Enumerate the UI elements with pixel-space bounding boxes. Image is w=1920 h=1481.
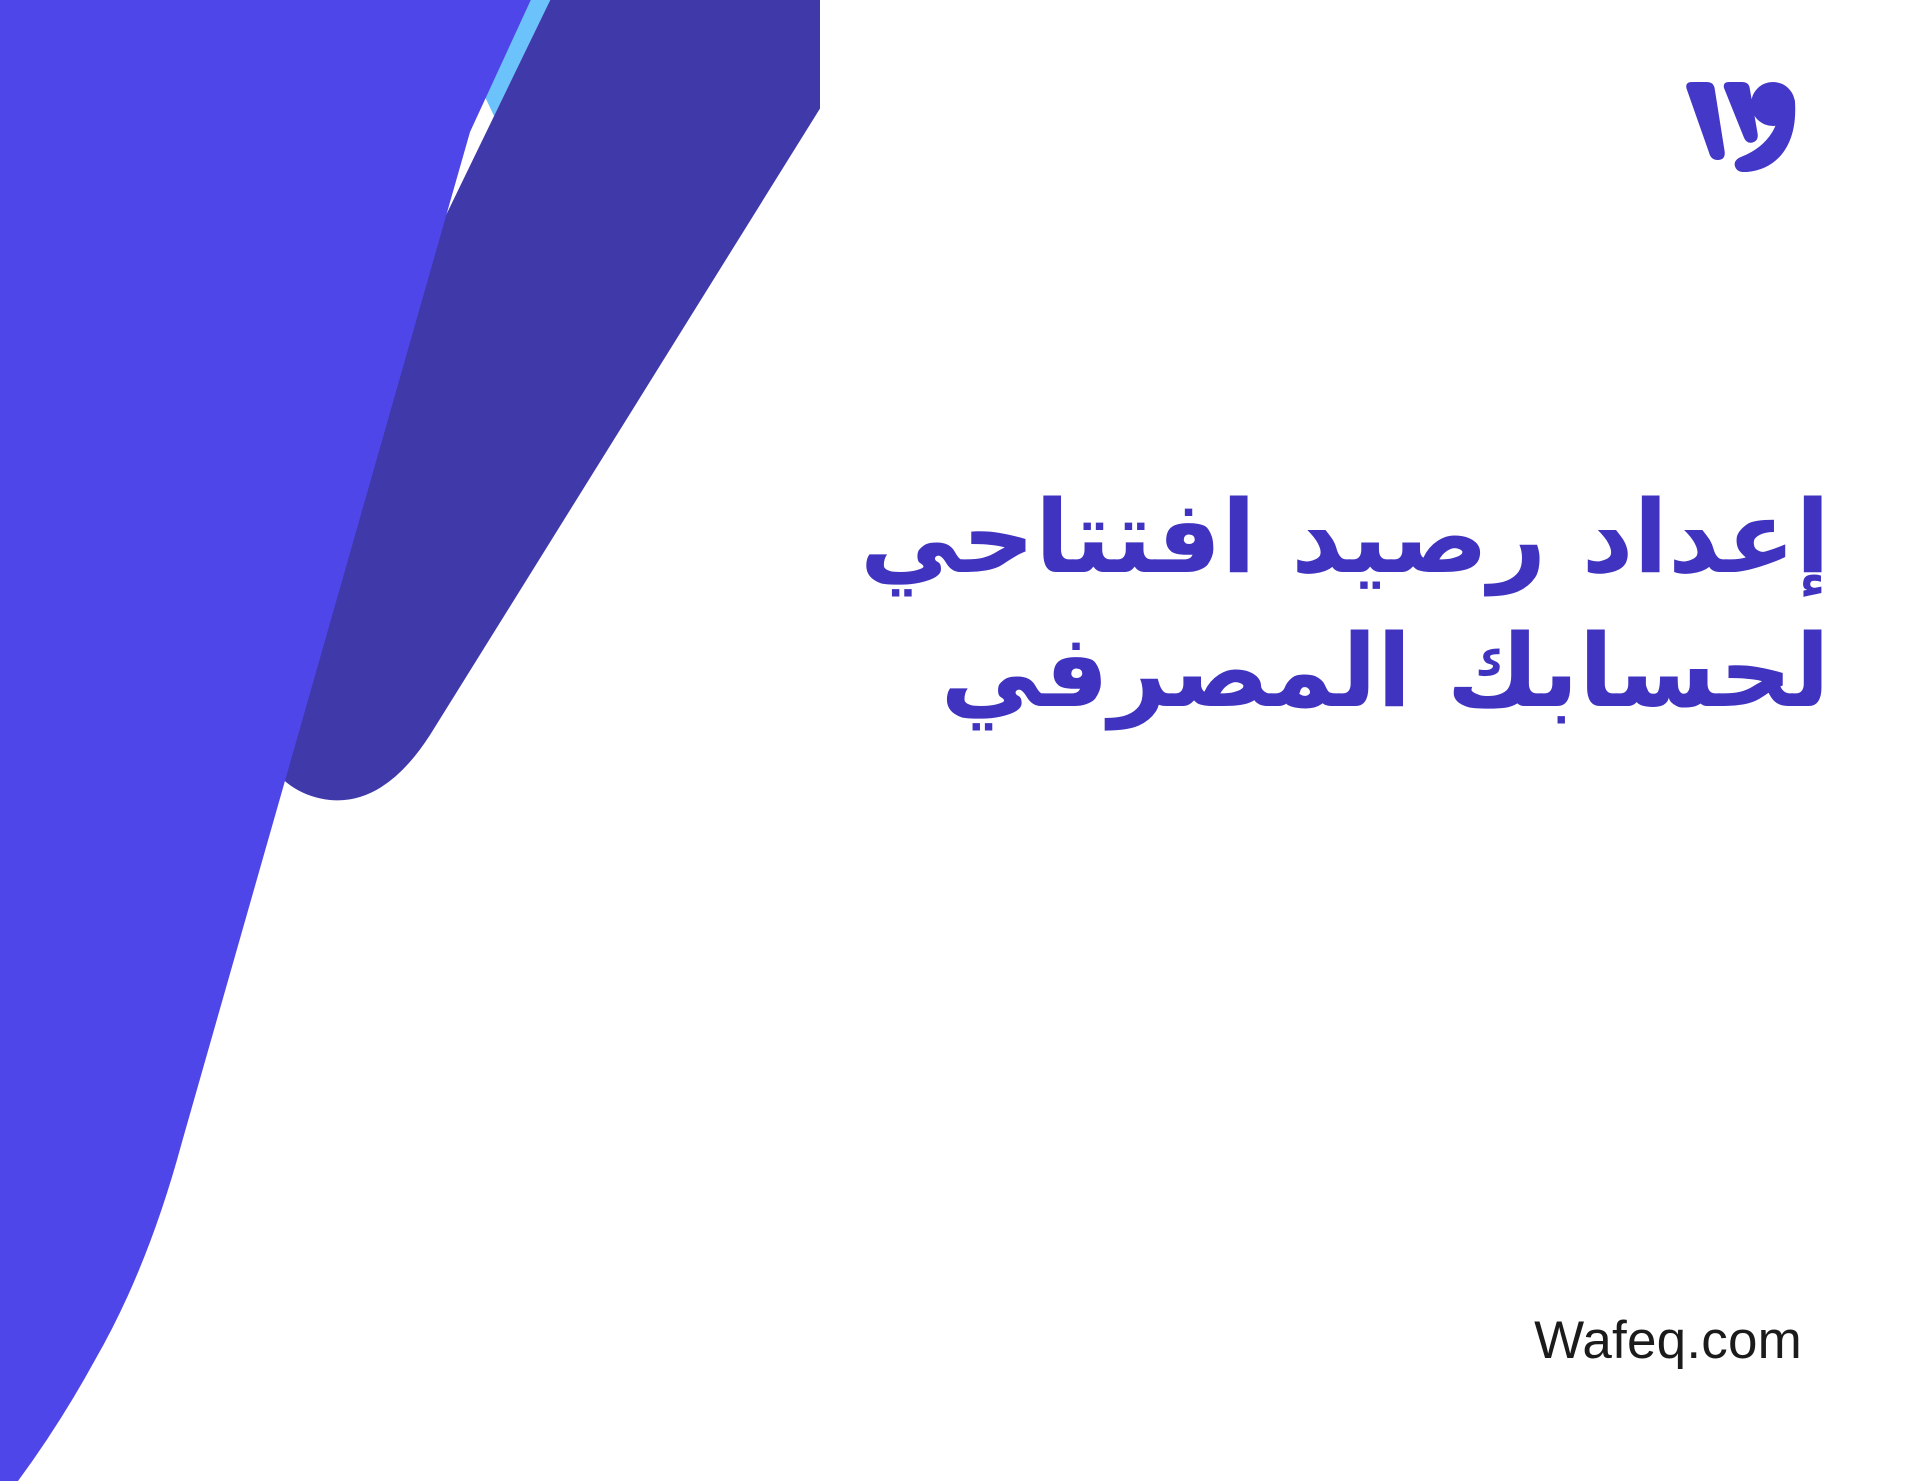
site-url-text: Wafeq.com <box>1534 1310 1802 1371</box>
headline-line-1: إعداد رصيد افتتاحي <box>810 470 1830 604</box>
poster-canvas: إعداد رصيد افتتاحي لحسابك المصرفي Wafeq.… <box>0 0 1920 1481</box>
dark-violet-stripe-shape <box>246 0 820 800</box>
headline-block: إعداد رصيد افتتاحي لحسابك المصرفي <box>810 470 1830 739</box>
light-blue-accent-shape <box>430 0 760 430</box>
diagonal-ribbon-artwork <box>0 0 820 1481</box>
primary-blue-panel-shape <box>0 0 540 1481</box>
headline-line-2: لحسابك المصرفي <box>810 604 1830 738</box>
wafeq-w-logo-icon <box>1686 82 1795 172</box>
wafeq-logo <box>1678 72 1802 172</box>
